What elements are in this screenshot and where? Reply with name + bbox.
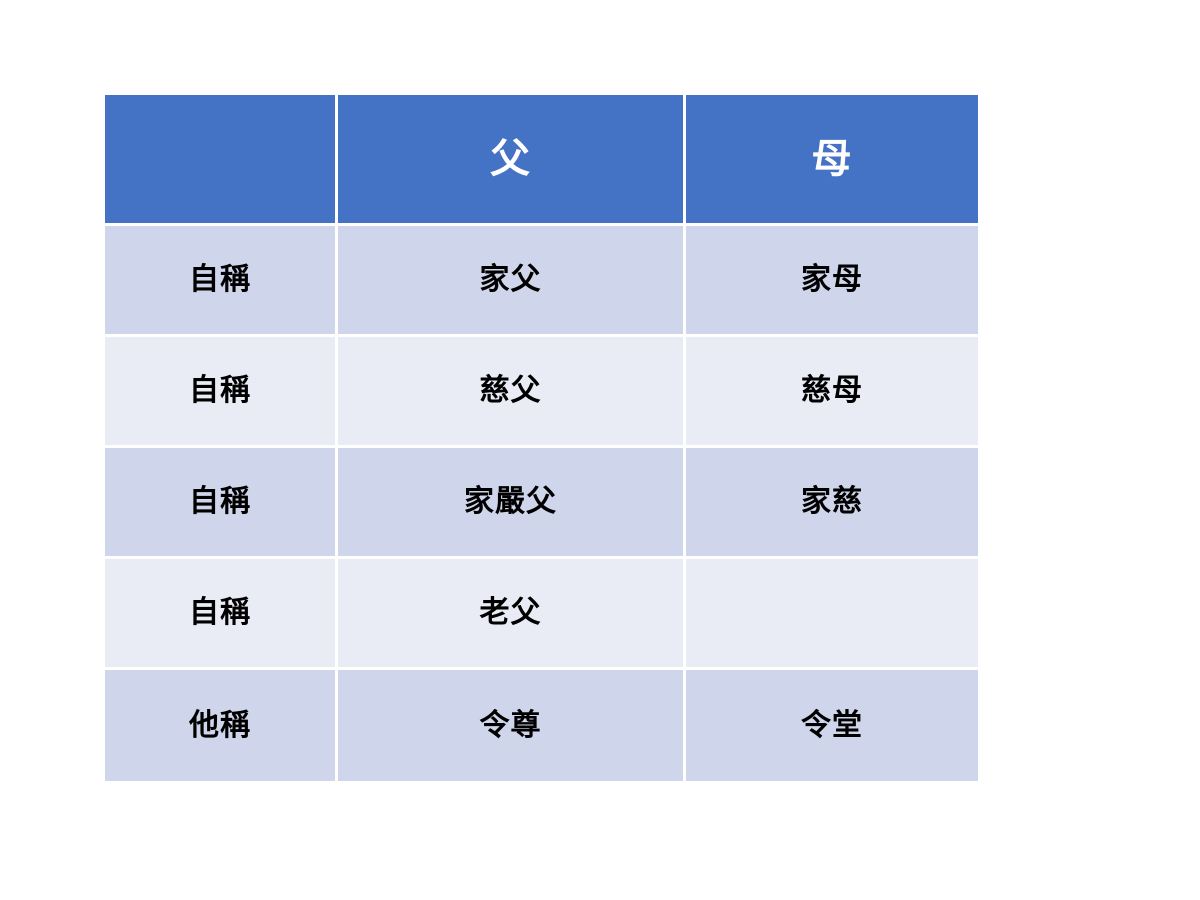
- table-body: 自稱 家父 家母 自稱 慈父 慈母 自稱 家嚴父 家慈 自稱 老父 他稱: [105, 226, 978, 781]
- table-row: 自稱 慈父 慈母: [105, 337, 978, 448]
- cell-father: 令尊: [338, 670, 686, 781]
- table-header-row: 父 母: [105, 95, 978, 226]
- cell-role: 他稱: [105, 670, 338, 781]
- column-header-role: [105, 95, 338, 226]
- cell-role: 自稱: [105, 559, 338, 670]
- table-row: 自稱 家父 家母: [105, 226, 978, 337]
- cell-mother: 家母: [686, 226, 978, 337]
- cell-father: 老父: [338, 559, 686, 670]
- cell-role: 自稱: [105, 226, 338, 337]
- slide-canvas: 父 母 自稱 家父 家母 自稱 慈父 慈母 自稱 家嚴父 家慈 自稱: [0, 0, 1200, 900]
- table-row: 自稱 老父: [105, 559, 978, 670]
- cell-role: 自稱: [105, 337, 338, 448]
- cell-father: 家嚴父: [338, 448, 686, 559]
- table-row: 自稱 家嚴父 家慈: [105, 448, 978, 559]
- cell-mother: 家慈: [686, 448, 978, 559]
- column-header-father: 父: [338, 95, 686, 226]
- cell-role: 自稱: [105, 448, 338, 559]
- cell-father: 慈父: [338, 337, 686, 448]
- cell-mother: 慈母: [686, 337, 978, 448]
- table-header: 父 母: [105, 95, 978, 226]
- cell-mother: [686, 559, 978, 670]
- column-header-mother: 母: [686, 95, 978, 226]
- cell-father: 家父: [338, 226, 686, 337]
- table-row: 他稱 令尊 令堂: [105, 670, 978, 781]
- kinship-terms-table: 父 母 自稱 家父 家母 自稱 慈父 慈母 自稱 家嚴父 家慈 自稱: [105, 95, 978, 781]
- cell-mother: 令堂: [686, 670, 978, 781]
